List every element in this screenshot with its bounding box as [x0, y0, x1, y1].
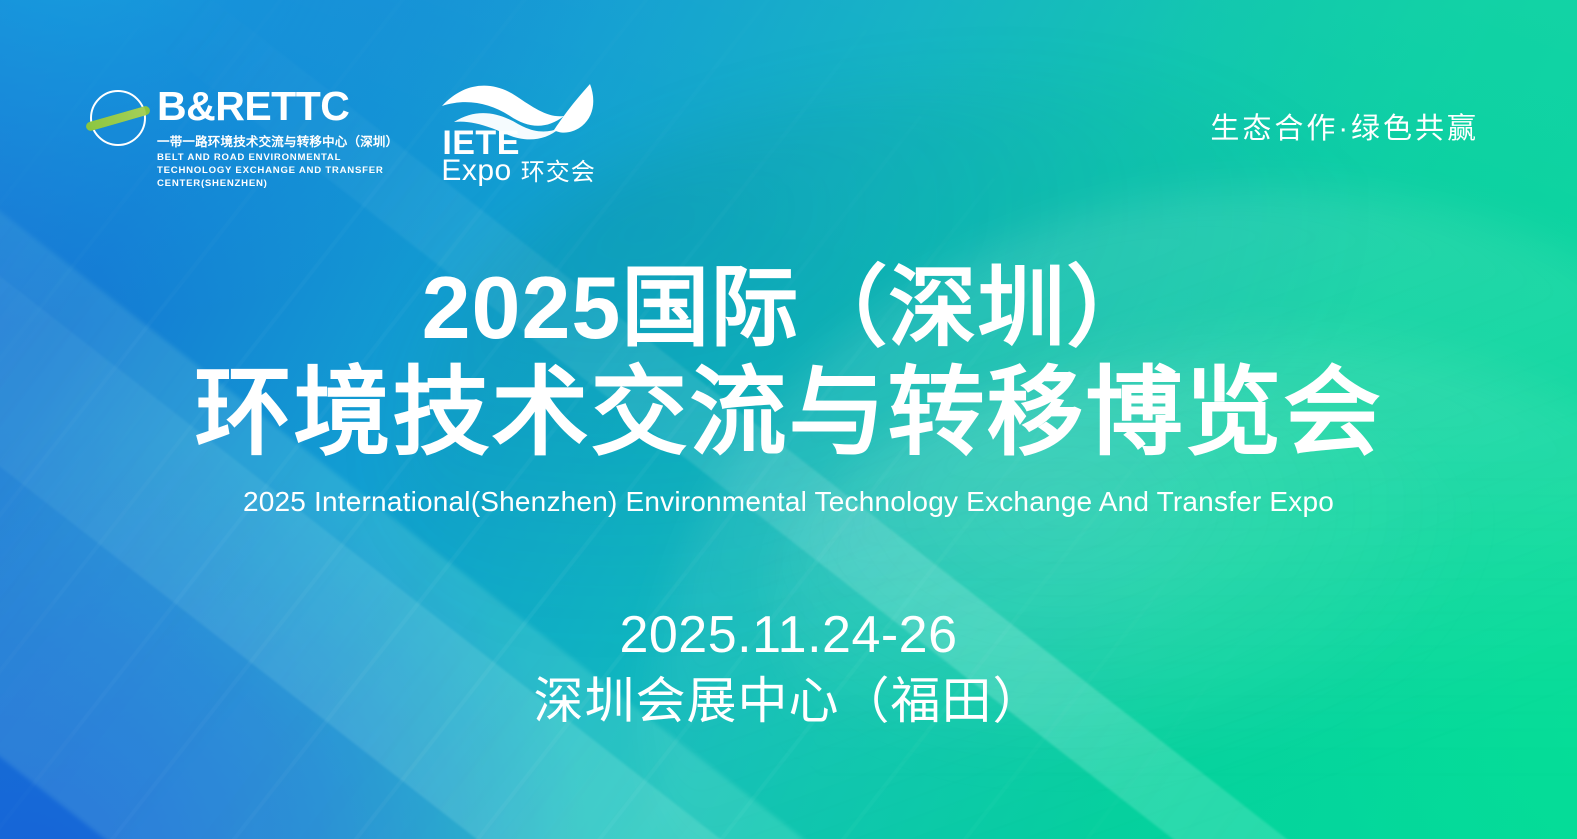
brettc-english-name: BELT AND ROAD ENVIRONMENTAL TECHNOLOGY E…: [157, 152, 398, 191]
iete-chinese-label: 环交会: [521, 161, 596, 185]
header-logos: B&RETTC 一带一路环境技术交流与转移中心（深圳） BELT AND ROA…: [90, 86, 600, 192]
iete-expo-logo[interactable]: IETE Expo 环交会: [440, 86, 600, 192]
event-venue: 深圳会展中心（福田）: [0, 671, 1577, 731]
event-date: 2025.11.24-26: [0, 605, 1577, 665]
iete-subtitle: Expo 环交会: [441, 156, 595, 186]
title-line-one: 2025国际（深圳）: [0, 262, 1577, 354]
title-english: 2025 International(Shenzhen) Environment…: [0, 486, 1577, 518]
iete-expo-label: Expo: [441, 156, 511, 186]
globe-icon: [90, 90, 146, 146]
brettc-english-line-3: CENTER(SHENZHEN): [157, 178, 398, 191]
title-line-two: 环境技术交流与转移博览会: [0, 362, 1577, 465]
brettc-logo[interactable]: B&RETTC 一带一路环境技术交流与转移中心（深圳） BELT AND ROA…: [90, 86, 398, 191]
brettc-english-line-2: TECHNOLOGY EXCHANGE AND TRANSFER: [157, 165, 398, 178]
brettc-wordmark: B&RETTC: [157, 86, 398, 126]
tagline: 生态合作·绿色共赢: [1210, 105, 1479, 147]
event-info-block: 2025.11.24-26 深圳会展中心（福田）: [0, 605, 1577, 731]
brettc-english-line-1: BELT AND ROAD ENVIRONMENTAL: [157, 152, 398, 165]
title-block: 2025国际（深圳） 环境技术交流与转移博览会 2025 Internation…: [0, 262, 1577, 518]
brettc-chinese-name: 一带一路环境技术交流与转移中心（深圳）: [157, 131, 398, 150]
event-banner: B&RETTC 一带一路环境技术交流与转移中心（深圳） BELT AND ROA…: [0, 0, 1577, 839]
